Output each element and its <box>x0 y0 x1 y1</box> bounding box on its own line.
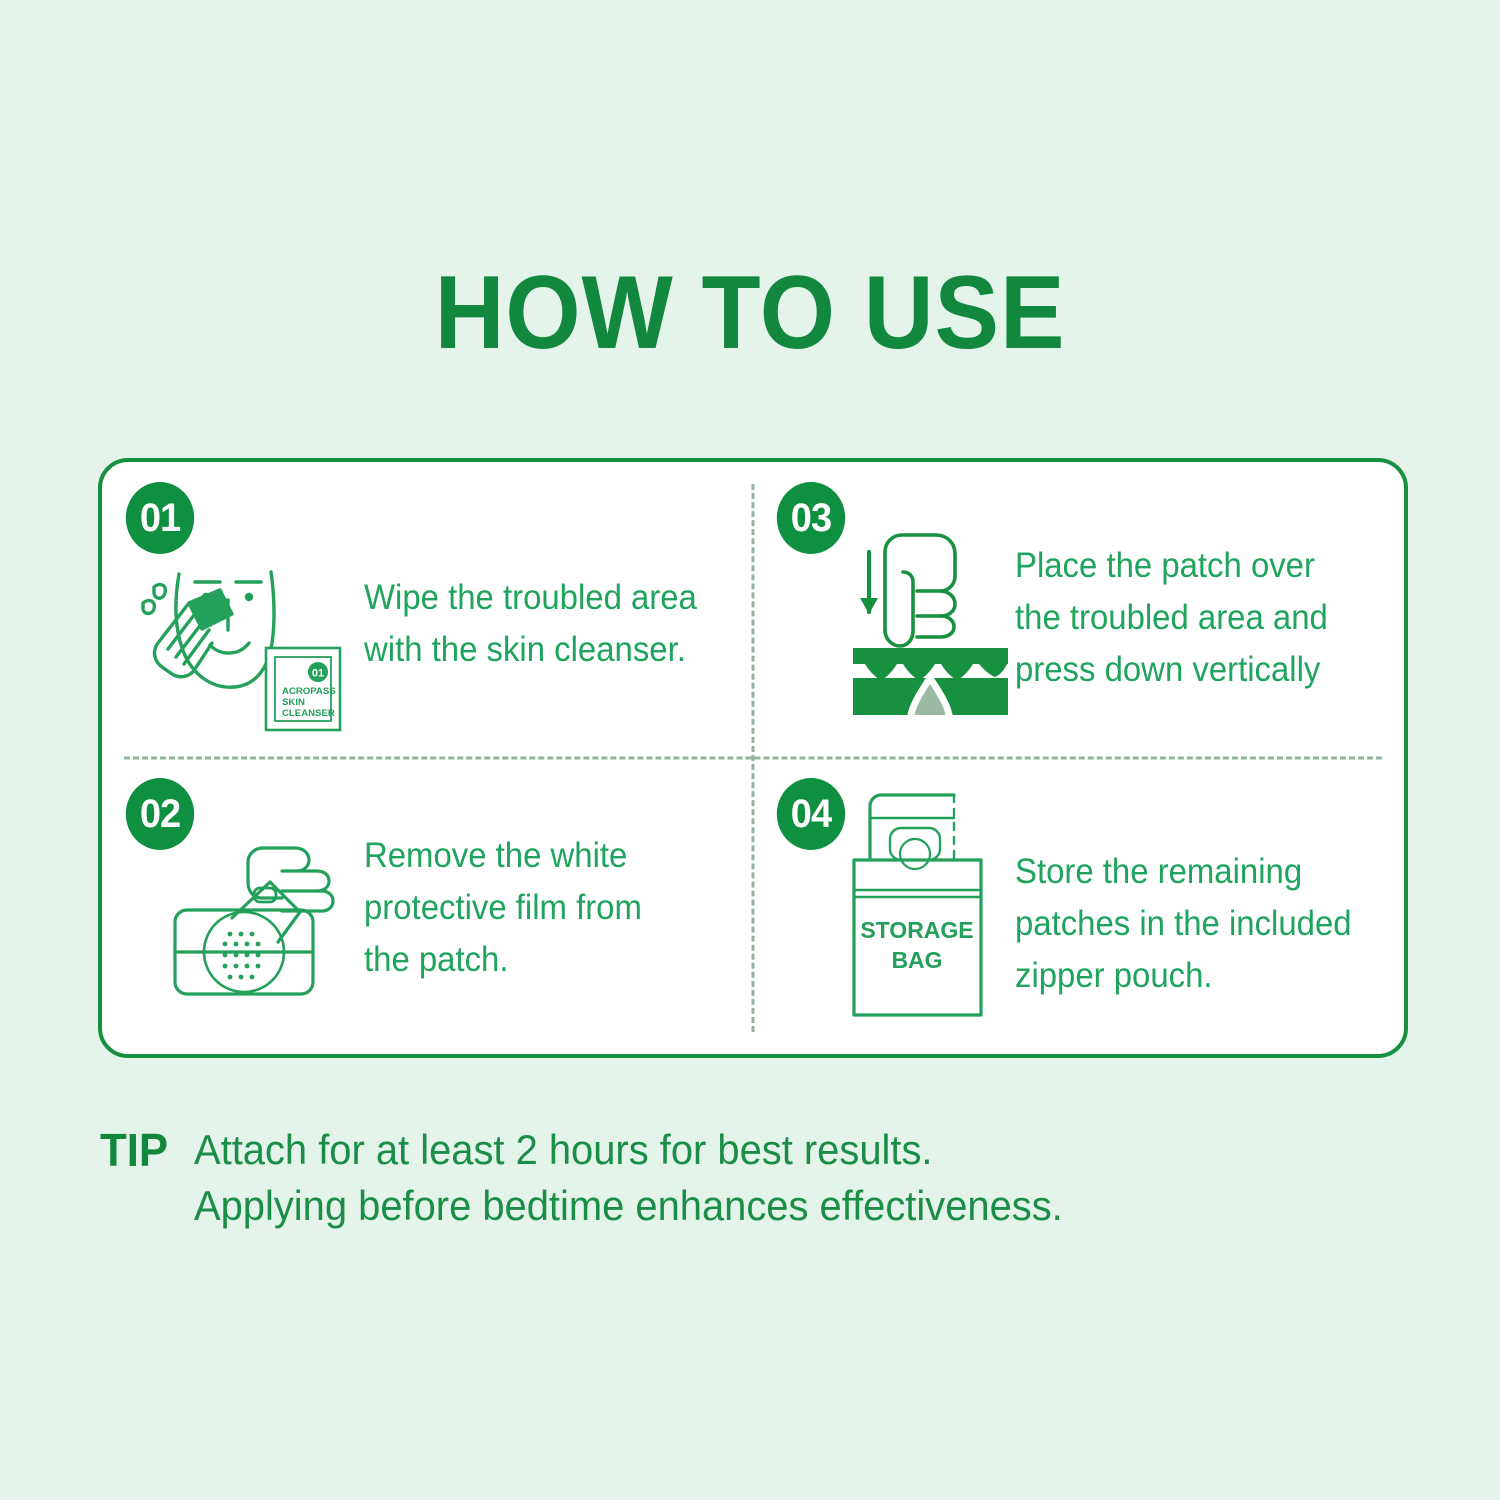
tip-label: TIP <box>100 1122 168 1178</box>
cleanser-box-line2: SKIN <box>282 697 305 708</box>
step-description-03: Place the patch over the troubled area a… <box>1015 540 1328 696</box>
step-cell-03: 03 <box>753 462 1404 758</box>
press-patch-on-skin-icon <box>843 490 1018 720</box>
storage-bag-icon: STORAGE BAG <box>848 786 988 1026</box>
storage-bag-line1: STORAGE <box>860 917 973 943</box>
step-number-badge-01: 01 <box>126 482 194 554</box>
step-cell-01: 01 <box>102 462 753 758</box>
cleanser-box-line3: CLEANSER <box>282 708 335 719</box>
tip-text: Attach for at least 2 hours for best res… <box>194 1122 1063 1234</box>
step-cell-02: 02 <box>102 758 753 1054</box>
cleanser-box-badge: 01 <box>312 668 324 680</box>
step-number-badge-04: 04 <box>777 778 845 850</box>
peel-film-patch-icon <box>170 838 345 1023</box>
step-cell-04: 04 STORAGE BAG <box>753 758 1404 1054</box>
step-description-04: Store the remaining patches in the inclu… <box>1015 846 1352 1002</box>
step-description-02: Remove the white protective film from th… <box>364 830 642 986</box>
page-title: HOW TO USE <box>53 258 1448 368</box>
step-number-badge-03: 03 <box>777 482 845 554</box>
step-description-01: Wipe the troubled area with the skin cle… <box>364 572 697 676</box>
divider-horizontal <box>124 757 1382 760</box>
tip-section: TIP Attach for at least 2 hours for best… <box>100 1122 1108 1234</box>
tip-line-2: Applying before bedtime enhances effecti… <box>194 1178 1063 1234</box>
cleanser-product-box: 01 ACROPASS SKIN CLEANSER <box>264 646 342 737</box>
cleanser-box-line1: ACROPASS <box>282 686 336 697</box>
steps-card: 01 <box>98 458 1408 1058</box>
storage-bag-line2: BAG <box>891 947 942 973</box>
tip-line-1: Attach for at least 2 hours for best res… <box>194 1122 1063 1178</box>
